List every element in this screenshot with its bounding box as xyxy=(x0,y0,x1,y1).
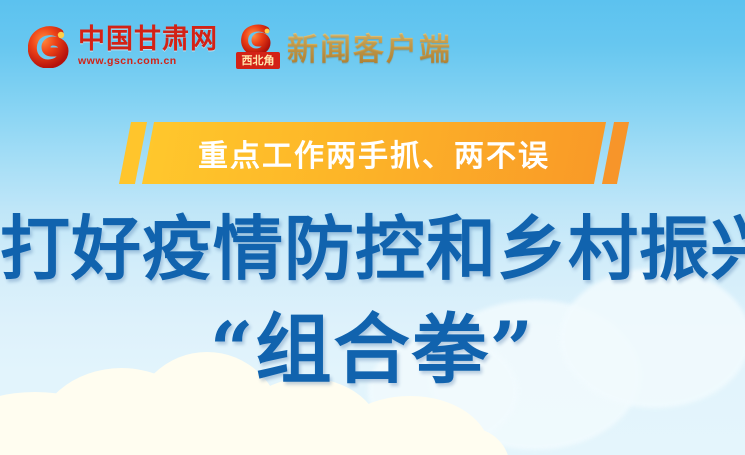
headline-line-1: 打好疫情防控和乡村振兴 xyxy=(0,214,745,284)
banner-text: 重点工作两手抓、两不误 xyxy=(148,122,600,184)
cloud-blob xyxy=(330,396,490,455)
xibeijiao-swirl-icon xyxy=(236,23,280,53)
xibeijiao-seal: 西北角 xyxy=(236,52,280,69)
logo-group: 中国甘肃网 www.gscn.com.cn xyxy=(28,23,452,69)
gscn-name: 中国甘肃网 xyxy=(78,26,218,53)
xibeijiao-title: 新闻客户端 xyxy=(287,24,452,69)
headline-line-2: “组合拳” xyxy=(0,312,745,388)
gscn-text-block: 中国甘肃网 www.gscn.com.cn xyxy=(78,26,218,67)
xibeijiao-logo[interactable]: 西北角 新闻客户端 xyxy=(236,23,452,69)
gscn-url: www.gscn.com.cn xyxy=(78,56,218,67)
gscn-logo[interactable]: 中国甘肃网 www.gscn.com.cn xyxy=(28,24,218,68)
xibeijiao-mark: 西北角 xyxy=(236,23,280,69)
logo-bar: 中国甘肃网 www.gscn.com.cn xyxy=(0,0,745,92)
headline-banner: 重点工作两手抓、两不误 xyxy=(0,122,745,184)
cloud-blob xyxy=(0,392,140,455)
poster-canvas: 中国甘肃网 www.gscn.com.cn xyxy=(0,0,745,455)
gscn-swirl-icon xyxy=(28,24,72,68)
banner-accent-right xyxy=(602,122,629,184)
cloud-base xyxy=(0,428,510,455)
